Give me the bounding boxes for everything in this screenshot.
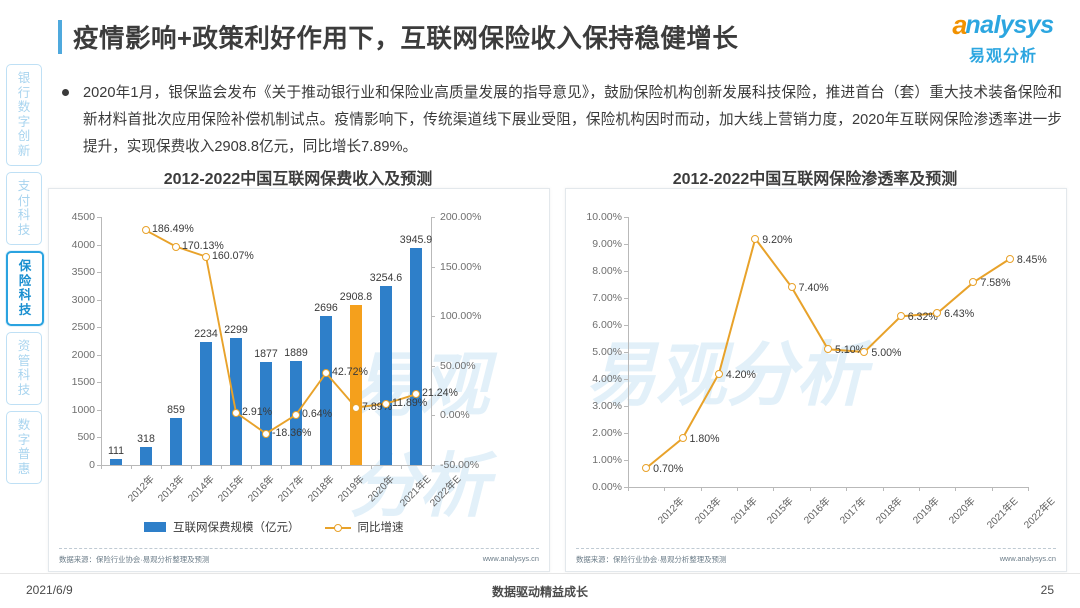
y-axis-tick-label: 8.00%	[568, 265, 622, 277]
sidebar-item-0[interactable]: 银行数字创新	[6, 64, 42, 166]
y2-axis-line	[431, 217, 432, 465]
line-data-point	[679, 434, 687, 442]
line-data-point	[322, 369, 330, 377]
source-text-left: 数据来源：保险行业协会·易观分析整理及预测	[59, 554, 209, 565]
x-axis-tick-label: 2013年	[153, 471, 186, 504]
line-data-point	[751, 235, 759, 243]
source-text-right: 数据来源：保险行业协会·易观分析整理及预测	[576, 554, 726, 565]
sidebar-item-label: 数	[18, 100, 31, 115]
page-title: 疫情影响+政策利好作用下，互联网保险收入保持稳健增长	[73, 18, 738, 55]
sidebar-item-label: 字	[18, 433, 31, 448]
x-axis-tickmark	[251, 465, 252, 469]
footer-page-number: 25	[1041, 583, 1054, 597]
sidebar-item-2[interactable]: 保险科技	[6, 251, 44, 326]
line-value-label: 7.58%	[980, 277, 1010, 289]
y-axis-tick-label: 6.00%	[568, 319, 622, 331]
line-data-point	[897, 312, 905, 320]
y-axis-line	[101, 217, 102, 465]
x-axis-tickmark	[883, 487, 884, 491]
line-value-label: 7.40%	[799, 282, 829, 294]
line-data-point	[202, 253, 210, 261]
sidebar-item-1[interactable]: 支付科技	[6, 172, 42, 245]
x-axis-tickmark	[992, 487, 993, 491]
line-value-label: 0.70%	[653, 463, 683, 475]
bar-value-label: 1889	[284, 347, 308, 359]
line-data-point	[1006, 255, 1014, 263]
x-axis-tick-label: 2021年E	[395, 471, 433, 509]
x-axis-tick-label: 2020年	[945, 493, 978, 526]
x-axis-tick-label: 2016年	[799, 493, 832, 526]
y-axis-tick-label: 500	[57, 431, 95, 443]
chart-bar	[230, 338, 243, 465]
x-axis-tickmark	[628, 487, 629, 491]
bar-value-label: 3945.9	[400, 234, 432, 246]
sidebar-item-label: 惠	[18, 462, 31, 477]
chart-card-penetration: 易观分析 0.00%1.00%2.00%3.00%4.00%5.00%6.00%…	[565, 188, 1067, 572]
bar-value-label: 3254.6	[370, 272, 402, 284]
bar-value-label: 2299	[224, 324, 248, 336]
sidebar-item-label: 技	[19, 303, 32, 318]
sidebar-item-label: 创	[18, 129, 31, 144]
line-data-point	[860, 348, 868, 356]
page-header: 疫情影响+政策利好作用下，互联网保险收入保持稳健增长	[58, 18, 738, 55]
line-data-point	[788, 283, 796, 291]
x-axis-tickmark	[701, 487, 702, 491]
bullet-paragraph: 2020年1月，银保监会发布《关于推动银行业和保险业高质量发展的指导意见》，鼓励…	[62, 80, 1062, 161]
y-axis-tick-label: 7.00%	[568, 292, 622, 304]
x-axis-tickmark	[131, 465, 132, 469]
x-axis-tickmark	[810, 487, 811, 491]
line-value-label: 1.80%	[690, 433, 720, 445]
line-value-label: 8.45%	[1017, 254, 1047, 266]
sidebar: 银行数字创新支付科技保险科技资管科技数字普惠	[6, 64, 42, 484]
x-axis-tick-label: 2017年	[273, 471, 306, 504]
sidebar-item-label: 管	[18, 354, 31, 369]
sidebar-item-label: 保	[19, 259, 32, 274]
bar-value-label: 1877	[254, 348, 278, 360]
line-data-point	[142, 226, 150, 234]
y-axis-tick-label: 0.00%	[568, 481, 622, 493]
line-value-label: 42.72%	[332, 366, 368, 378]
line-data-point	[715, 370, 723, 378]
y-axis-tick-label: 2000	[57, 349, 95, 361]
x-axis-tick-label: 2019年	[333, 471, 366, 504]
sidebar-item-label: 数	[18, 418, 31, 433]
line-value-label: 0.64%	[302, 408, 332, 420]
footer: 2021/6/9 数据驱动精益成长 25	[0, 573, 1080, 608]
x-axis-tickmark	[371, 465, 372, 469]
x-axis-tickmark	[221, 465, 222, 469]
line-value-label: 2.91%	[242, 406, 272, 418]
line-data-point	[292, 411, 300, 419]
bar-value-label: 111	[108, 445, 124, 457]
y-axis-tick-label: 1.00%	[568, 454, 622, 466]
plot-area-premium: 050010001500200025003000350040004500-50.…	[49, 189, 549, 571]
y-axis-tick-label: 3000	[57, 294, 95, 306]
footer-slogan: 数据驱动精益成长	[0, 583, 1080, 600]
line-data-point	[969, 278, 977, 286]
x-axis-tickmark	[919, 487, 920, 491]
line-data-point	[382, 400, 390, 408]
y-axis-tick-label: 4000	[57, 239, 95, 251]
y-axis-tick-label: 3500	[57, 266, 95, 278]
x-axis-tickmark	[311, 465, 312, 469]
line-data-point	[262, 430, 270, 438]
line-data-point	[172, 243, 180, 251]
chart-legend-premium: 互联网保费规模（亿元）同比增速	[144, 519, 404, 535]
x-axis-tick-label: 2019年	[908, 493, 941, 526]
x-axis-tickmark	[773, 487, 774, 491]
line-value-label: 6.43%	[944, 308, 974, 320]
y2-axis-tick-label: 150.00%	[440, 261, 502, 273]
title-accent-bar	[58, 20, 62, 54]
logo-cn-text: 易观分析	[944, 42, 1062, 66]
x-axis-tick-label: 2016年	[243, 471, 276, 504]
y-axis-tick-label: 3.00%	[568, 400, 622, 412]
x-axis-tick-label: 2014年	[726, 493, 759, 526]
line-data-point	[824, 345, 832, 353]
y-axis-tick-label: 0	[57, 459, 95, 471]
x-axis-tickmark	[281, 465, 282, 469]
source-url-right: www.analysys.cn	[1000, 554, 1056, 565]
legend-label-line: 同比增速	[358, 519, 404, 535]
sidebar-item-4[interactable]: 数字普惠	[6, 411, 42, 484]
sidebar-item-label: 新	[18, 144, 31, 159]
sidebar-item-label: 险	[19, 274, 32, 289]
y-axis-tick-label: 2500	[57, 321, 95, 333]
x-axis-tick-label: 2021年E	[983, 493, 1021, 531]
sidebar-item-label: 字	[18, 115, 31, 130]
x-axis-tick-label: 2012年	[123, 471, 156, 504]
y2-axis-tick-label: 100.00%	[440, 310, 502, 322]
y2-axis-tick-label: -50.00%	[440, 459, 502, 471]
sidebar-item-3[interactable]: 资管科技	[6, 332, 42, 405]
source-row-right: 数据来源：保险行业协会·易观分析整理及预测 www.analysys.cn	[576, 548, 1056, 565]
source-row-left: 数据来源：保险行业协会·易观分析整理及预测 www.analysys.cn	[59, 548, 539, 565]
x-axis-tickmark	[1028, 487, 1029, 491]
sidebar-item-label: 付	[18, 194, 31, 209]
sidebar-item-label: 银	[18, 71, 31, 86]
y-axis-tick-label: 5.00%	[568, 346, 622, 358]
y-axis-line	[628, 217, 629, 487]
line-value-label: -18.36%	[272, 427, 311, 439]
bar-value-label: 2908.8	[340, 291, 372, 303]
chart-bar	[410, 248, 423, 465]
sidebar-item-label: 资	[18, 339, 31, 354]
bar-value-label: 859	[167, 404, 185, 416]
sidebar-item-label: 技	[18, 383, 31, 398]
sidebar-item-label: 支	[18, 179, 31, 194]
x-axis-tick-label: 2022年E	[425, 471, 463, 509]
chart-title-premium: 2012-2022中国互联网保费收入及预测	[48, 165, 548, 189]
line-value-label: 186.49%	[152, 223, 194, 235]
chart-bar	[140, 447, 153, 465]
line-value-label: 21.24%	[422, 387, 458, 399]
x-axis-tickmark	[955, 487, 956, 491]
y-axis-tick-label: 1000	[57, 404, 95, 416]
sidebar-item-label: 行	[18, 86, 31, 101]
y2-axis-tick-label: 200.00%	[440, 211, 502, 223]
logo-wordmark: nalysys	[965, 13, 1053, 38]
legend-swatch-line	[325, 522, 351, 532]
x-axis-tick-label: 2017年	[835, 493, 868, 526]
line-data-point	[352, 404, 360, 412]
sidebar-item-label: 普	[18, 447, 31, 462]
x-axis-tick-label: 2013年	[690, 493, 723, 526]
chart-bar	[320, 316, 333, 465]
bullet-text: 2020年1月，银保监会发布《关于推动银行业和保险业高质量发展的指导意见》，鼓励…	[83, 80, 1062, 161]
y-axis-tick-label: 9.00%	[568, 238, 622, 250]
x-axis-tickmark	[737, 487, 738, 491]
x-axis-tick-label: 2018年	[872, 493, 905, 526]
legend-label-bar: 互联网保费规模（亿元）	[173, 519, 300, 535]
y2-axis-tick-label: 50.00%	[440, 360, 502, 372]
line-value-label: 4.20%	[726, 369, 756, 381]
plot-area-penetration: 0.00%1.00%2.00%3.00%4.00%5.00%6.00%7.00%…	[566, 189, 1066, 571]
chart-bar	[380, 286, 393, 465]
line-data-point	[642, 464, 650, 472]
y-axis-tick-label: 4.00%	[568, 373, 622, 385]
bullet-dot-icon	[62, 89, 69, 96]
x-axis-tick-label: 2015年	[213, 471, 246, 504]
y-axis-tick-label: 10.00%	[568, 211, 622, 223]
x-axis-tick-label: 2022年E	[1019, 493, 1057, 531]
source-url-left: www.analysys.cn	[483, 554, 539, 565]
x-axis-tickmark	[846, 487, 847, 491]
analysys-logo: a nalysys 易观分析	[944, 12, 1062, 66]
x-axis-tick-label: 2014年	[183, 471, 216, 504]
bar-value-label: 2234	[194, 328, 218, 340]
bar-value-label: 2696	[314, 302, 338, 314]
line-value-label: 9.20%	[762, 234, 792, 246]
sidebar-item-label: 科	[18, 368, 31, 383]
line-value-label: 5.00%	[871, 347, 901, 359]
line-data-point	[232, 409, 240, 417]
chart-card-premium: 易观分析 05001000150020002500300035004000450…	[48, 188, 550, 572]
x-axis-line	[628, 487, 1028, 488]
x-axis-tickmark	[401, 465, 402, 469]
legend-line-marker	[334, 524, 342, 532]
chart-title-penetration: 2012-2022中国互联网保险渗透率及预测	[565, 165, 1065, 189]
legend-swatch-bar	[144, 522, 166, 532]
y2-axis-tick-label: 0.00%	[440, 409, 502, 421]
sidebar-item-label: 技	[18, 223, 31, 238]
x-axis-tickmark	[431, 465, 432, 469]
sidebar-item-label: 科	[18, 208, 31, 223]
y-axis-tick-label: 2.00%	[568, 427, 622, 439]
x-axis-tick-label: 2018年	[303, 471, 336, 504]
chart-bar	[200, 342, 213, 465]
x-axis-tick-label: 2012年	[654, 493, 687, 526]
x-axis-tickmark	[101, 465, 102, 469]
x-axis-tickmark	[161, 465, 162, 469]
sidebar-item-label: 科	[19, 288, 32, 303]
x-axis-tickmark	[341, 465, 342, 469]
line-data-point	[412, 390, 420, 398]
chart-bar	[350, 305, 363, 465]
chart-bar	[170, 418, 183, 465]
y-axis-tick-label: 1500	[57, 376, 95, 388]
x-axis-tickmark	[664, 487, 665, 491]
line-value-label: 160.07%	[212, 250, 254, 262]
y-axis-tick-label: 4500	[57, 211, 95, 223]
x-axis-tick-label: 2015年	[763, 493, 796, 526]
x-axis-tickmark	[191, 465, 192, 469]
x-axis-tick-label: 2020年	[363, 471, 396, 504]
chart-bar	[110, 459, 123, 465]
line-data-point	[933, 309, 941, 317]
bar-value-label: 318	[137, 433, 155, 445]
x-axis-line	[101, 465, 431, 466]
